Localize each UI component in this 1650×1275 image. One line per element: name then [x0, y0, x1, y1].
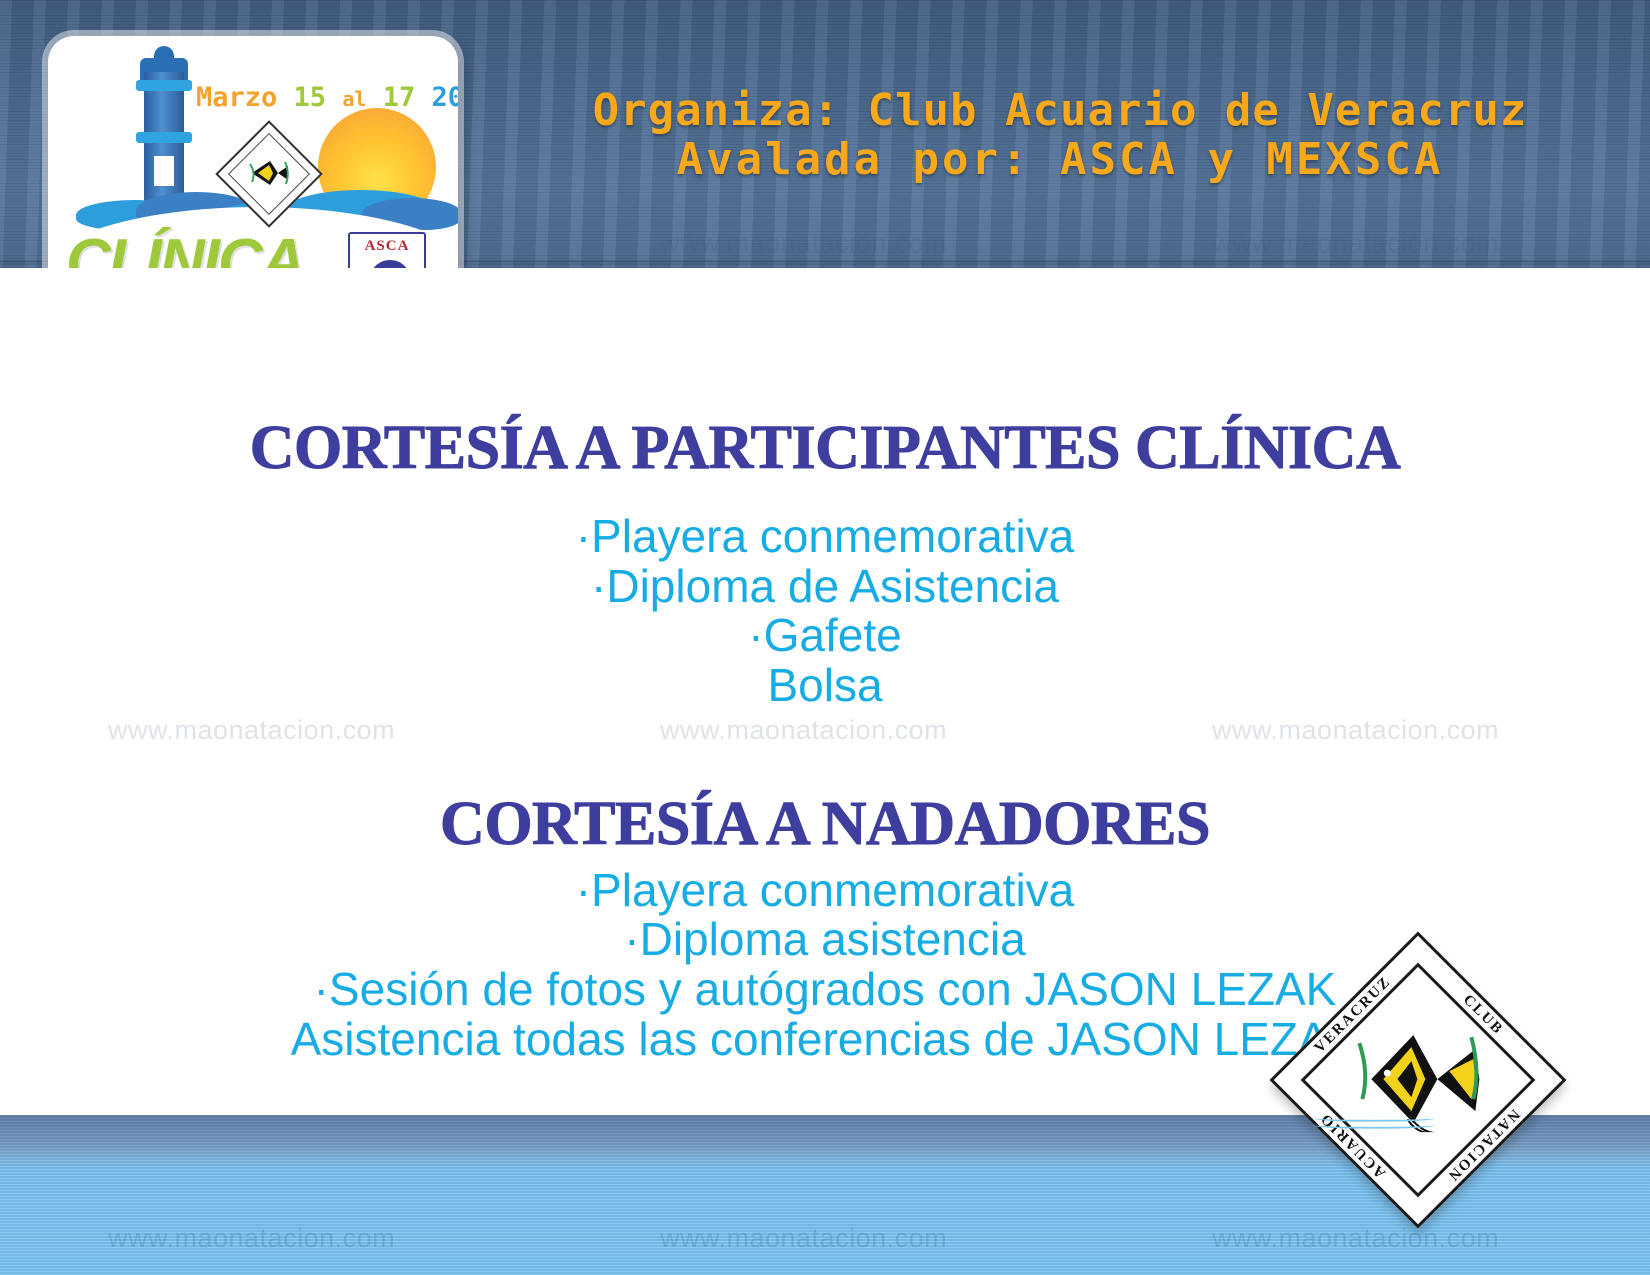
- logo-date: Marzo 15 al 17 2019: [196, 82, 446, 113]
- header-line-avalada: Avalada por: ASCA y MEXSCA: [540, 135, 1580, 184]
- date-month: Marzo: [196, 82, 277, 113]
- date-year: 2019: [431, 82, 458, 113]
- watermark: www.maonatacion.com: [1212, 1223, 1499, 1254]
- date-connector: al: [342, 87, 366, 111]
- watermark: www.maonatacion.com: [108, 715, 395, 746]
- watermark: www.maonatacion.com: [108, 1223, 395, 1254]
- list-item: ·Gafete: [0, 611, 1650, 661]
- date-day-end: 17: [383, 82, 416, 113]
- header-line-organiza: Organiza: Club Acuario de Veracruz: [540, 86, 1580, 135]
- list-item: ·Playera conmemorativa: [0, 512, 1650, 562]
- watermark: www.maonatacion.com: [1212, 228, 1499, 259]
- watermark: www.maonatacion.com: [660, 228, 947, 259]
- section-title-participantes: CORTESÍA A PARTICIPANTES CLÍNICA: [0, 413, 1650, 484]
- section-title-nadadores: CORTESÍA A NADADORES: [0, 789, 1650, 860]
- watermark: www.maonatacion.com: [660, 715, 947, 746]
- angelfish-icon: [248, 158, 290, 188]
- asca-label: ASCA: [350, 238, 424, 255]
- watermark: www.maonatacion.com: [1212, 715, 1499, 746]
- date-day-start: 15: [294, 82, 327, 113]
- list-item: ·Playera conmemorativa: [0, 866, 1650, 916]
- header-organizer-text: Organiza: Club Acuario de Veracruz Avala…: [540, 86, 1580, 185]
- list-item: ·Diploma de Asistencia: [0, 562, 1650, 612]
- section-participantes: CORTESÍA A PARTICIPANTES CLÍNICA ·Player…: [0, 413, 1650, 711]
- section-list-participantes: ·Playera conmemorativa ·Diploma de Asist…: [0, 512, 1650, 711]
- watermark: www.maonatacion.com: [660, 1223, 947, 1254]
- seal-water-icon: [1313, 1115, 1435, 1133]
- list-item: Bolsa: [0, 661, 1650, 711]
